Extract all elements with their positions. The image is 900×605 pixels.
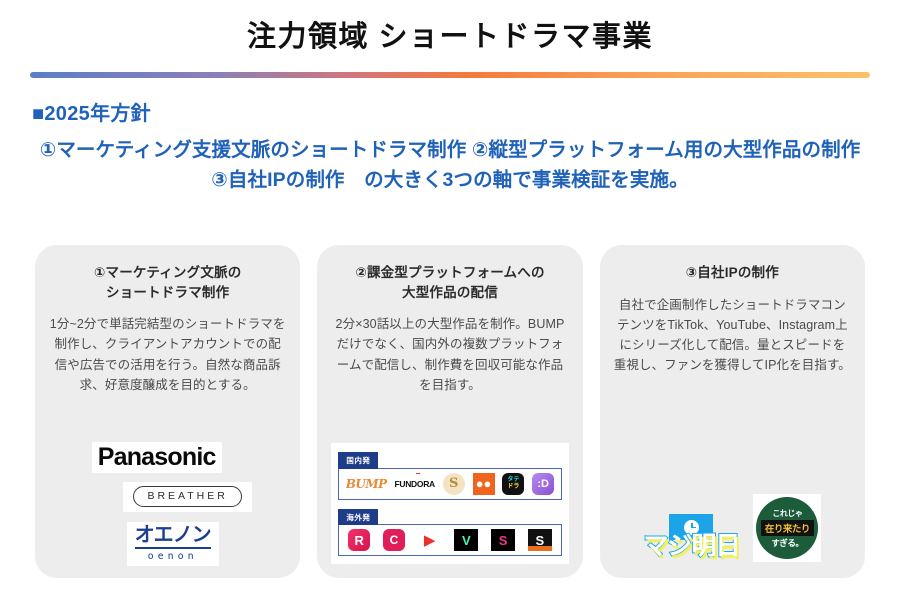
s-orange-logo: S (528, 529, 552, 551)
d-colon-logo: :D (532, 473, 554, 495)
client-logos: Panasonic BREATHER オエノン oenon (49, 442, 286, 566)
platform-logo-row: BUMP FUNDORA S ●● タテ ドラ :D (338, 468, 561, 500)
platform-group-overseas: 海外発 R C ▶ V S S (338, 507, 561, 557)
arikitari-circle: これじゃ 在り来たり すぎる。 (756, 497, 818, 559)
ip-logos-container: マジ明日 これじゃ 在り来たり すぎる。 (614, 494, 851, 566)
card-description: 自社で企画制作したショートドラマコンテンツをTikTok、YouTube、Ins… (614, 295, 851, 376)
platform-panel: 国内発 BUMP FUNDORA S ●● タテ ドラ :D 海外発 (331, 443, 568, 564)
tatedora-logo: タテ ドラ (502, 473, 524, 495)
policy-body: ①マーケティング支援文脈のショートドラマ制作 ②縦型プラットフォーム用の大型作品… (32, 135, 868, 195)
policy-block: ■2025年方針 ①マーケティング支援文脈のショートドラマ制作 ②縦型プラットフ… (0, 100, 900, 195)
card-title-line1: ③自社IPの制作 (686, 263, 779, 283)
arikitari-line1: これじゃ (772, 508, 802, 519)
arikitari-line3: すぎる。 (771, 537, 803, 549)
platform-logos: 国内発 BUMP FUNDORA S ●● タテ ドラ :D 海外発 (331, 443, 568, 566)
card-own-ip-production[interactable]: ③自社IPの制作 自社で企画制作したショートドラマコンテンツをTikTok、Yo… (600, 245, 865, 578)
oenon-logo: オエノン oenon (127, 522, 219, 566)
pocket-fm-logo: C (383, 529, 405, 551)
bump-logo: BUMP (346, 473, 387, 495)
seaart-logo: S (443, 473, 465, 495)
v-app-logo: V (454, 529, 478, 551)
card-title: ②課金型プラットフォームへの 大型作品の配信 (355, 263, 544, 302)
breather-logo: BREATHER (123, 482, 251, 512)
platform-group-domestic: 国内発 BUMP FUNDORA S ●● タテ ドラ :D (338, 450, 561, 500)
card-title-line1: ②課金型プラットフォームへの (355, 263, 544, 283)
card-title-line2: ショートドラマ制作 (94, 283, 242, 303)
card-description: 1分~2分で単話完結型のショートドラマを制作し、クライアントアカウントでの配信や… (49, 314, 286, 395)
accent-gradient-bar (30, 72, 870, 78)
cards-container: ①マーケティング文脈の ショートドラマ制作 1分~2分で単話完結型のショートドラ… (35, 245, 865, 578)
platform-group-tab: 海外発 (338, 509, 378, 526)
s-pink-logo: S (491, 529, 515, 551)
panasonic-logo: Panasonic (92, 442, 222, 473)
tatedora-logo-label-bottom: ドラ (507, 484, 519, 490)
red-play-logo: ▶ (418, 529, 442, 551)
page-title: 注力領域 ショートドラマ事業 (0, 0, 900, 55)
ip-logos: マジ明日 これじゃ 在り来たり すぎる。 (614, 494, 851, 566)
arikitari-line2: 在り来たり (761, 520, 814, 536)
platform-group-tab: 国内発 (338, 452, 378, 469)
card-description: 2分×30話以上の大型作品を制作。BUMPだけでなく、国内外の複数プラットフォー… (331, 314, 568, 395)
card-title-line1: ①マーケティング文脈の (94, 263, 242, 283)
card-paid-platform-distribution[interactable]: ②課金型プラットフォームへの 大型作品の配信 2分×30話以上の大型作品を制作。… (317, 245, 582, 578)
fundora-logo: FUNDORA (394, 473, 434, 495)
orange-face-logo: ●● (473, 473, 495, 495)
korejya-arikitari-logo: これじゃ 在り来たり すぎる。 (753, 494, 821, 562)
card-title: ①マーケティング文脈の ショートドラマ制作 (94, 263, 242, 302)
card-title-line2: 大型作品の配信 (355, 283, 544, 303)
card-marketing-context[interactable]: ①マーケティング文脈の ショートドラマ制作 1分~2分で単話完結型のショートドラ… (35, 245, 300, 578)
policy-heading: ■2025年方針 (32, 100, 868, 128)
maji-ashita-logo-label: マジ明日 (643, 532, 739, 560)
platform-logo-row: R C ▶ V S S (338, 524, 561, 556)
breather-logo-label: BREATHER (133, 486, 241, 507)
maji-ashita-logo: マジ明日 (643, 514, 739, 562)
oenon-logo-label-en: oenon (135, 551, 211, 562)
card-title: ③自社IPの制作 (686, 263, 779, 283)
rakuten-r-logo: R (348, 529, 370, 551)
oenon-logo-label-jp: オエノン (135, 525, 211, 549)
